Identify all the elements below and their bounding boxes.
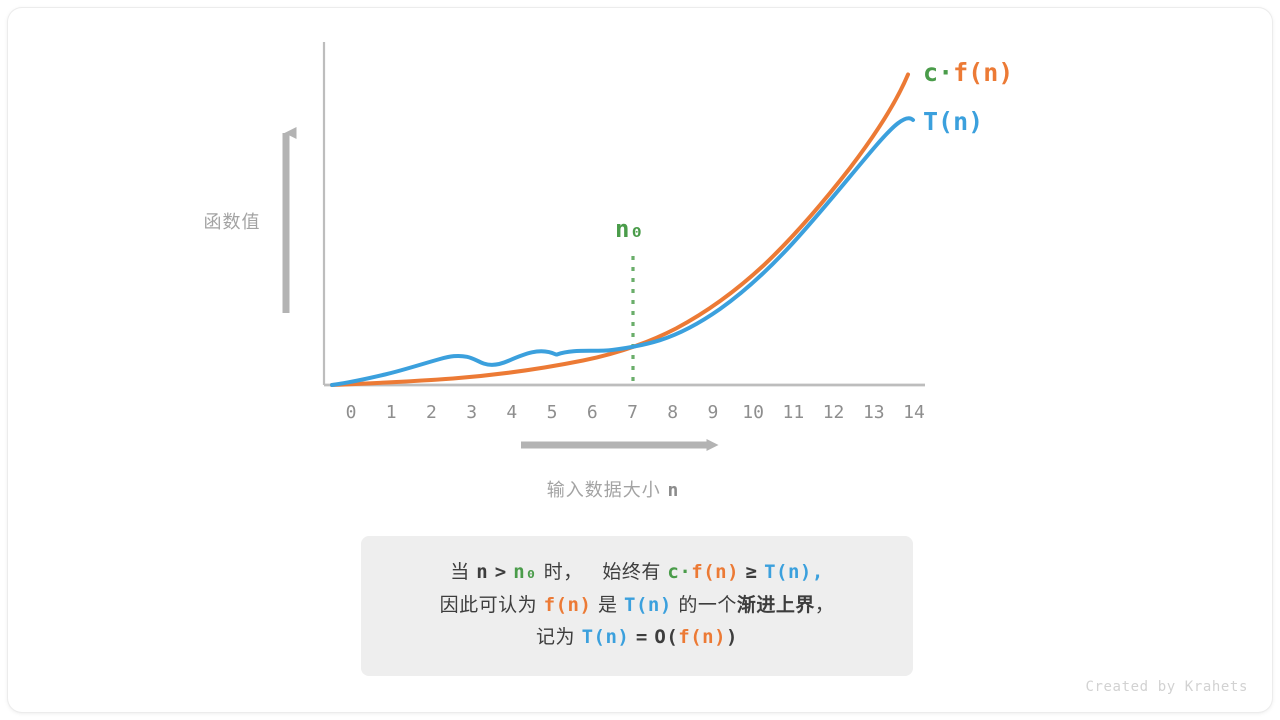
- x-axis-label: 输入数据大小 n: [463, 476, 763, 502]
- x-tick-label: 11: [783, 402, 805, 423]
- x-axis-label-text: 输入数据大小: [547, 480, 661, 501]
- caption-l3-o-open: O(: [654, 626, 678, 648]
- caption-l2-bold-term: 渐进上界: [737, 594, 815, 616]
- caption-l1-n0: n₀: [513, 561, 537, 583]
- x-tick-label: 5: [547, 402, 558, 423]
- legend-multiply-dot: ·: [938, 58, 953, 87]
- n0-marker-label: n₀: [615, 215, 644, 243]
- x-tick-label: 13: [863, 402, 885, 423]
- x-tick-label: 12: [823, 402, 845, 423]
- caption-line-1: 当 n > n₀ 时， 始终有 c·f(n) ≥ T(n),: [361, 556, 913, 589]
- caption-l1-c: c: [667, 561, 679, 583]
- caption-l3-p1: 记为: [536, 626, 575, 648]
- figure-card: 函数值 输入数据大小 n c·f(n) T(n) n₀ 012345678910…: [8, 8, 1272, 712]
- caption-l3-fn: f(n): [678, 626, 726, 648]
- x-tick-label: 0: [346, 402, 357, 423]
- caption-line-3: 记为 T(n) = O(f(n)): [361, 621, 913, 654]
- x-tick-label: 6: [587, 402, 598, 423]
- legend-constant-c: c: [923, 58, 938, 87]
- x-tick-label: 1: [386, 402, 397, 423]
- caption-l1-n: n: [476, 561, 488, 583]
- caption-l1-p3: 始终有: [602, 561, 661, 583]
- caption-l3-eq: =: [636, 626, 648, 648]
- legend-c-f-n: c·f(n): [923, 58, 1013, 87]
- legend-function-f-n: f(n): [953, 58, 1013, 87]
- x-axis-label-variable: n: [667, 480, 679, 501]
- x-tick-label: 9: [708, 402, 719, 423]
- caption-l1-tn: T(n),: [764, 561, 824, 583]
- caption-l1-ge: ≥: [746, 561, 758, 583]
- credit-text: Created by Krahets: [1085, 679, 1248, 695]
- x-tick-label: 4: [506, 402, 517, 423]
- caption-l2-p4: ，: [815, 594, 835, 616]
- caption-l1-p2: 时，: [544, 561, 583, 583]
- caption-l3-tn: T(n): [582, 626, 630, 648]
- plot-axes: [324, 42, 925, 385]
- caption-l2-tn: T(n): [624, 594, 672, 616]
- x-tick-label: 2: [426, 402, 437, 423]
- caption-l1-gt: >: [495, 561, 507, 583]
- x-tick-label: 3: [466, 402, 477, 423]
- curve-t-n: [332, 118, 913, 385]
- x-tick-label: 7: [627, 402, 638, 423]
- caption-l2-p2: 是: [598, 594, 618, 616]
- caption-l2-p3: 的一个: [678, 594, 737, 616]
- y-axis-label: 函数值: [186, 208, 278, 234]
- x-tick-label: 10: [742, 402, 764, 423]
- x-axis-tick-labels: 01234567891011121314: [332, 402, 933, 428]
- caption-l1-fn: f(n): [691, 561, 739, 583]
- caption-line-2: 因此可认为 f(n) 是 T(n) 的一个渐进上界，: [361, 589, 913, 622]
- caption-l1-dot: ·: [679, 561, 691, 583]
- caption-box: 当 n > n₀ 时， 始终有 c·f(n) ≥ T(n), 因此可认为 f(n…: [361, 536, 913, 676]
- caption-l3-o-close: ): [726, 626, 738, 648]
- x-tick-label: 14: [903, 402, 925, 423]
- caption-l2-p1: 因此可认为: [440, 594, 538, 616]
- legend-t-n: T(n): [923, 107, 983, 136]
- legend-function-t-n: T(n): [923, 107, 983, 136]
- x-tick-label: 8: [667, 402, 678, 423]
- caption-l1-p1: 当: [450, 561, 470, 583]
- caption-l2-fn: f(n): [544, 594, 592, 616]
